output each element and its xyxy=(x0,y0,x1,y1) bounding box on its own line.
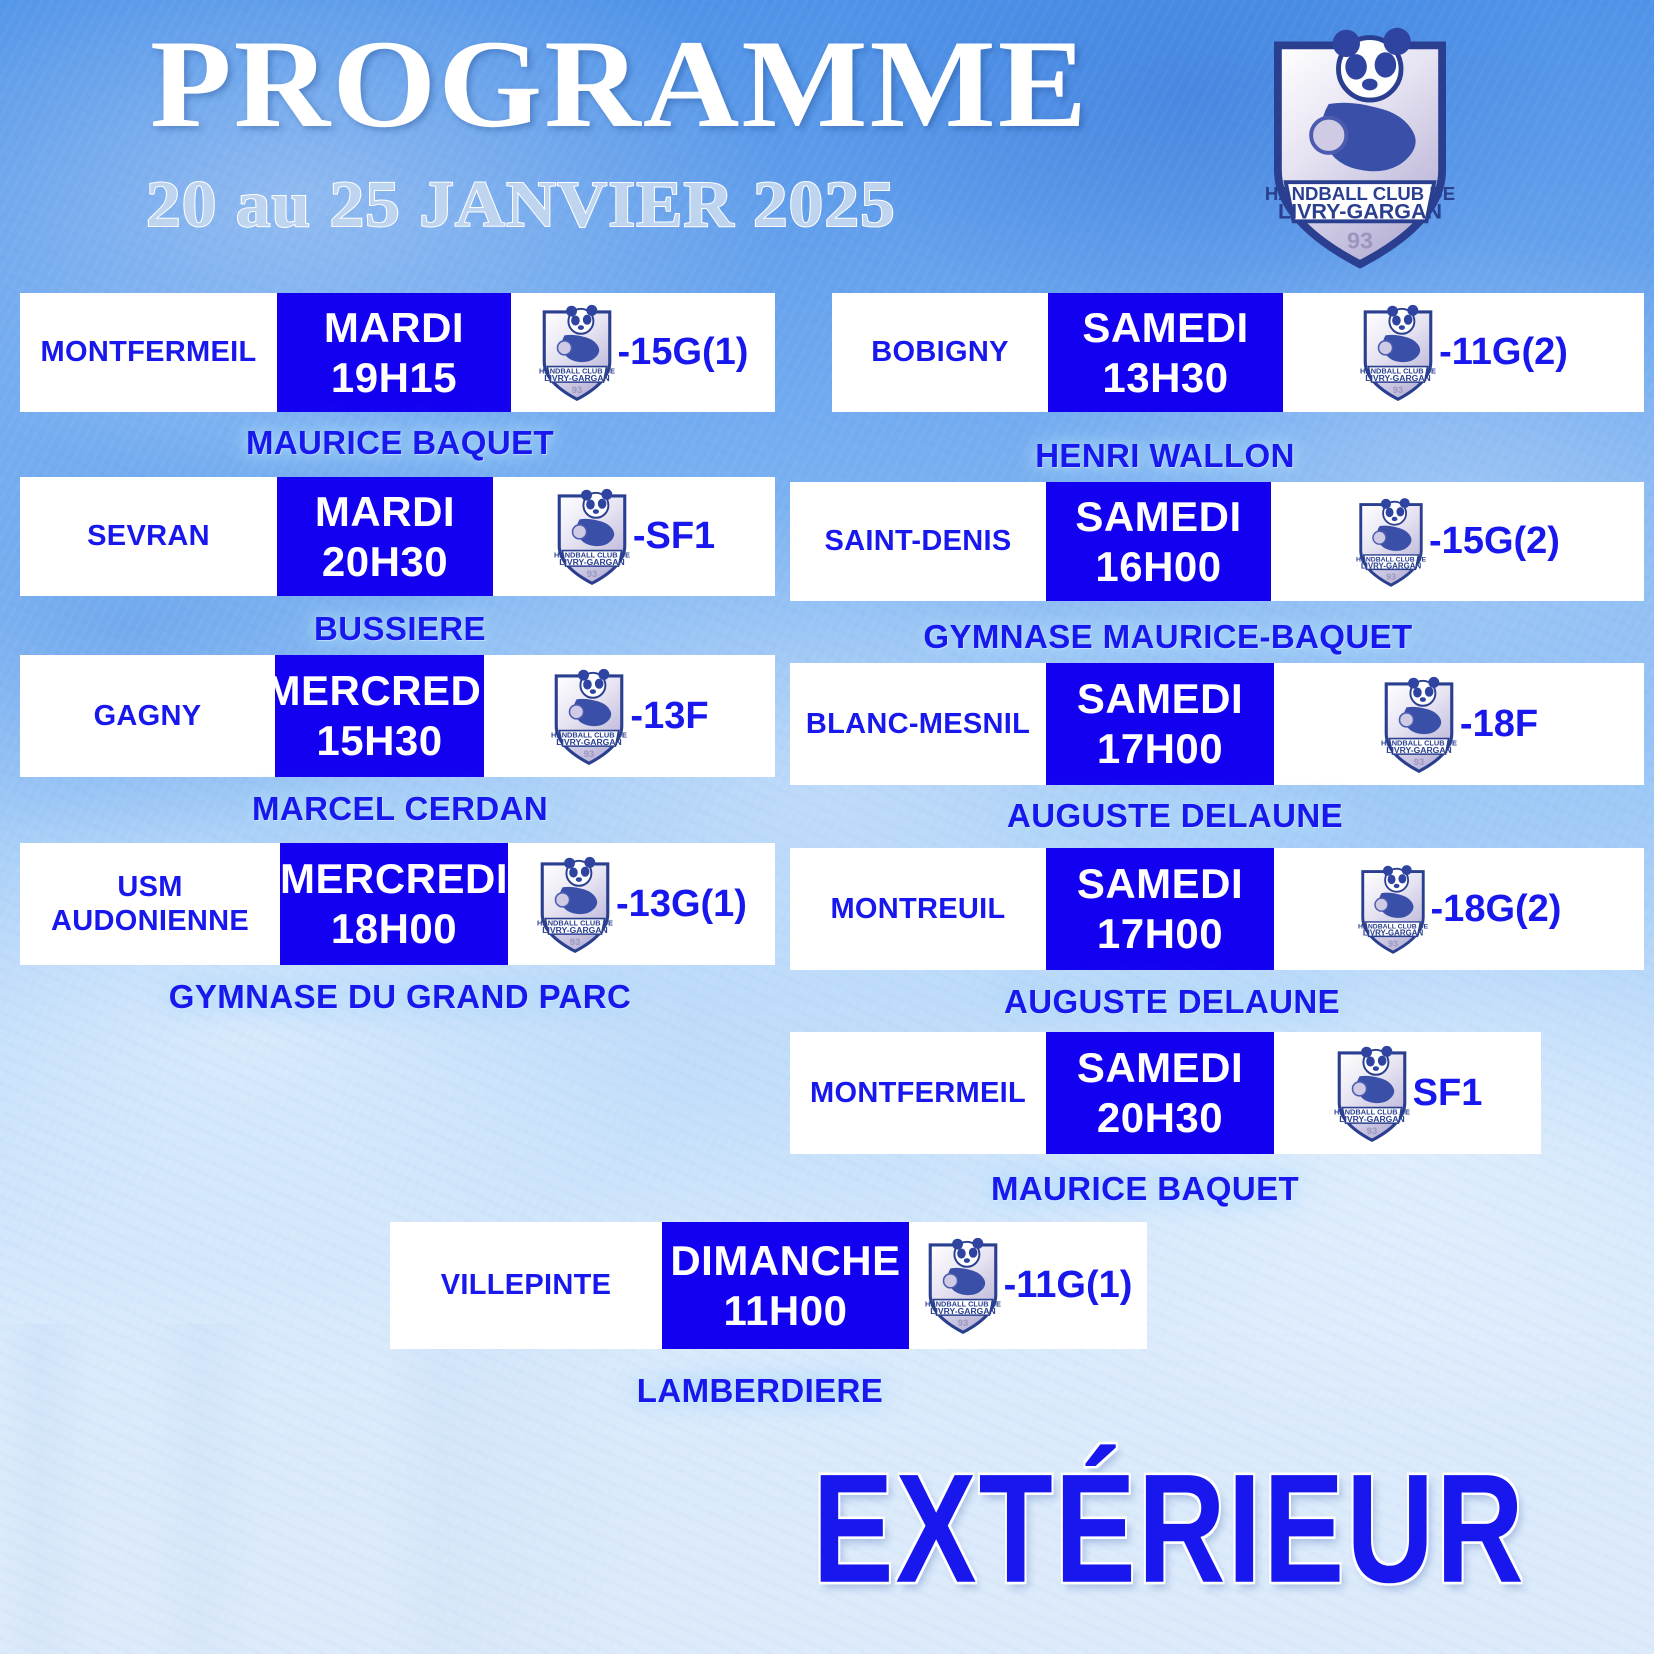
match-time: 11H00 xyxy=(724,1286,848,1336)
club-crest-icon: HANDBALL CLUB DE LIVRY-GARGAN 93 xyxy=(550,665,628,768)
match-team: HANDBALL CLUB DE LIVRY-GARGAN 93 -11G(1) xyxy=(909,1222,1147,1349)
match-opponent: USMAUDONIENNE xyxy=(20,843,280,965)
club-crest-icon: HANDBALL CLUB DE LIVRY-GARGAN 93 xyxy=(1359,301,1437,404)
club-crest-icon: HANDBALL CLUB DE LIVRY-GARGAN 93 xyxy=(1357,861,1429,957)
match-day: DIMANCHE xyxy=(670,1236,900,1286)
match-opponent: SEVRAN xyxy=(20,477,277,596)
match-category: -15G(1) xyxy=(618,331,749,374)
svg-text:93: 93 xyxy=(571,385,581,395)
match-opponent: VILLEPINTE xyxy=(390,1222,662,1349)
match-team: HANDBALL CLUB DE LIVRY-GARGAN 93 -18G(2) xyxy=(1274,848,1644,970)
svg-text:93: 93 xyxy=(1393,385,1403,395)
svg-text:LIVRY-GARGAN: LIVRY-GARGAN xyxy=(542,924,607,934)
match-team: HANDBALL CLUB DE LIVRY-GARGAN 93 -13G(1) xyxy=(508,843,775,965)
match-team: HANDBALL CLUB DE LIVRY-GARGAN 93 -18F xyxy=(1274,663,1644,785)
club-crest-icon: HANDBALL CLUB DE LIVRY-GARGAN 93 xyxy=(1333,1042,1411,1145)
svg-text:LIVRY-GARGAN: LIVRY-GARGAN xyxy=(1365,373,1430,383)
club-crest-icon: HANDBALL CLUB DE LIVRY-GARGAN 93 xyxy=(1355,494,1427,590)
match-card[interactable]: USMAUDONIENNEMERCREDI18H00 HANDBALL CLUB… xyxy=(20,843,775,965)
club-crest-icon: HANDBALL CLUB DE LIVRY-GARGAN 93 xyxy=(1380,673,1458,776)
svg-text:LIVRY-GARGAN: LIVRY-GARGAN xyxy=(1339,1113,1404,1123)
match-day: SAMEDI xyxy=(1077,1043,1243,1093)
svg-text:93: 93 xyxy=(957,1318,967,1328)
svg-text:93: 93 xyxy=(1414,757,1424,767)
match-card[interactable]: MONTFERMEILMARDI19H15 HANDBALL CLUB DE L… xyxy=(20,293,775,412)
date-range-subtitle: 20 au 25 JANVIER 2025 xyxy=(146,172,896,238)
match-opponent: MONTREUIL xyxy=(790,848,1046,970)
match-day: SAMEDI xyxy=(1082,303,1248,353)
match-datetime: SAMEDI20H30 xyxy=(1046,1032,1274,1154)
match-time: 20H30 xyxy=(1097,1093,1223,1143)
match-team: HANDBALL CLUB DE LIVRY-GARGAN 93 -15G(1) xyxy=(511,293,775,412)
match-card[interactable]: SAINT-DENISSAMEDI16H00 HANDBALL CLUB DE … xyxy=(790,482,1644,601)
match-card[interactable]: GAGNYMERCREDI15H30 HANDBALL CLUB DE LIVR… xyxy=(20,655,775,777)
match-datetime: MERCREDI18H00 xyxy=(280,843,508,965)
match-time: 17H00 xyxy=(1097,724,1223,774)
match-category: -13G(1) xyxy=(616,883,747,926)
match-venue: AUGUSTE DELAUNE xyxy=(0,983,1654,1021)
match-category: -11G(2) xyxy=(1439,331,1568,374)
match-datetime: MARDI20H30 xyxy=(277,477,493,596)
match-category: -11G(1) xyxy=(1004,1264,1133,1307)
match-team: HANDBALL CLUB DE LIVRY-GARGAN 93 -11G(2) xyxy=(1283,293,1644,412)
match-team: HANDBALL CLUB DE LIVRY-GARGAN 93 -13F xyxy=(484,655,775,777)
club-crest-icon: HANDBALL CLUB DE LIVRY-GARGAN 93 xyxy=(538,301,616,404)
match-opponent: MONTFERMEIL xyxy=(790,1032,1046,1154)
svg-text:LIVRY-GARGAN: LIVRY-GARGAN xyxy=(1362,928,1423,937)
club-crest-icon: HANDBALL CLUB DE LIVRY-GARGAN 93 xyxy=(553,485,631,588)
match-card[interactable]: VILLEPINTEDIMANCHE11H00 HANDBALL CLUB DE… xyxy=(390,1222,1147,1349)
match-datetime: MARDI19H15 xyxy=(277,293,511,412)
match-team: HANDBALL CLUB DE LIVRY-GARGAN 93 SF1 xyxy=(1274,1032,1541,1154)
poster-header: PROGRAMME 20 au 25 JANVIER 2025 xyxy=(0,0,1654,280)
crest-line2: LIVRY-GARGAN xyxy=(1278,199,1442,223)
match-opponent: BLANC-MESNIL xyxy=(790,663,1046,785)
match-venue: GYMNASE MAURICE-BAQUET xyxy=(0,618,1654,656)
match-datetime: DIMANCHE11H00 xyxy=(662,1222,909,1349)
match-card[interactable]: BLANC-MESNILSAMEDI17H00 HANDBALL CLUB DE… xyxy=(790,663,1644,785)
svg-text:93: 93 xyxy=(587,569,597,579)
match-category: SF1 xyxy=(1413,1072,1483,1115)
page-title: PROGRAMME xyxy=(150,22,1089,148)
match-time: 13H30 xyxy=(1102,353,1228,403)
match-category: -18G(2) xyxy=(1431,888,1562,931)
match-team: HANDBALL CLUB DE LIVRY-GARGAN 93 -15G(2) xyxy=(1271,482,1644,601)
match-card[interactable]: SEVRANMARDI20H30 HANDBALL CLUB DE LIVRY-… xyxy=(20,477,775,596)
match-opponent: MONTFERMEIL xyxy=(20,293,277,412)
match-card[interactable]: MONTFERMEILSAMEDI20H30 HANDBALL CLUB DE … xyxy=(790,1032,1541,1154)
match-venue: MAURICE BAQUET xyxy=(0,1170,1654,1208)
match-category: -18F xyxy=(1460,703,1538,746)
match-time: 15H30 xyxy=(316,716,442,766)
svg-text:LIVRY-GARGAN: LIVRY-GARGAN xyxy=(544,373,609,383)
club-crest-icon: HANDBALL CLUB DE LIVRY-GARGAN 93 xyxy=(1262,18,1458,276)
match-datetime: SAMEDI13H30 xyxy=(1048,293,1283,412)
svg-text:LIVRY-GARGAN: LIVRY-GARGAN xyxy=(930,1306,995,1316)
match-venue: AUGUSTE DELAUNE xyxy=(0,797,1654,835)
match-day: MERCREDI xyxy=(266,666,494,716)
svg-text:LIVRY-GARGAN: LIVRY-GARGAN xyxy=(1361,561,1422,570)
match-datetime: MERCREDI15H30 xyxy=(275,655,484,777)
match-time: 18H00 xyxy=(331,904,457,954)
match-opponent: GAGNY xyxy=(20,655,275,777)
club-crest-icon: HANDBALL CLUB DE LIVRY-GARGAN 93 xyxy=(924,1234,1002,1337)
svg-text:93: 93 xyxy=(1388,938,1398,948)
match-day: MARDI xyxy=(315,487,455,537)
match-category: -SF1 xyxy=(633,515,715,558)
match-time: 17H00 xyxy=(1097,909,1223,959)
svg-text:93: 93 xyxy=(1386,571,1396,581)
match-card[interactable]: MONTREUILSAMEDI17H00 HANDBALL CLUB DE LI… xyxy=(790,848,1644,970)
club-crest-icon: HANDBALL CLUB DE LIVRY-GARGAN 93 xyxy=(536,853,614,956)
match-venue: LAMBERDIERE xyxy=(0,1372,1520,1410)
match-datetime: SAMEDI16H00 xyxy=(1046,482,1271,601)
svg-text:93: 93 xyxy=(570,937,580,947)
svg-text:LIVRY-GARGAN: LIVRY-GARGAN xyxy=(559,557,624,567)
match-venue: HENRI WALLON xyxy=(0,437,1654,475)
match-time: 16H00 xyxy=(1095,542,1221,592)
crest-number: 93 xyxy=(1347,228,1373,254)
match-opponent: BOBIGNY xyxy=(832,293,1048,412)
match-team: HANDBALL CLUB DE LIVRY-GARGAN 93 -SF1 xyxy=(493,477,775,596)
match-time: 19H15 xyxy=(331,353,457,403)
svg-text:93: 93 xyxy=(1366,1126,1376,1136)
match-opponent: SAINT-DENIS xyxy=(790,482,1046,601)
match-day: SAMEDI xyxy=(1077,859,1243,909)
svg-text:LIVRY-GARGAN: LIVRY-GARGAN xyxy=(557,736,622,746)
match-time: 20H30 xyxy=(322,537,448,587)
match-day: MARDI xyxy=(324,303,464,353)
match-day: SAMEDI xyxy=(1077,674,1243,724)
svg-text:93: 93 xyxy=(584,749,594,759)
exterieur-label: EXTÉRIEUR xyxy=(813,1441,1526,1619)
match-datetime: SAMEDI17H00 xyxy=(1046,848,1274,970)
match-day: SAMEDI xyxy=(1075,492,1241,542)
match-card[interactable]: BOBIGNYSAMEDI13H30 HANDBALL CLUB DE LIVR… xyxy=(832,293,1644,412)
match-category: -15G(2) xyxy=(1429,520,1560,563)
match-datetime: SAMEDI17H00 xyxy=(1046,663,1274,785)
match-category: -13F xyxy=(630,695,708,738)
match-day: MERCREDI xyxy=(280,854,508,904)
svg-text:LIVRY-GARGAN: LIVRY-GARGAN xyxy=(1386,744,1451,754)
